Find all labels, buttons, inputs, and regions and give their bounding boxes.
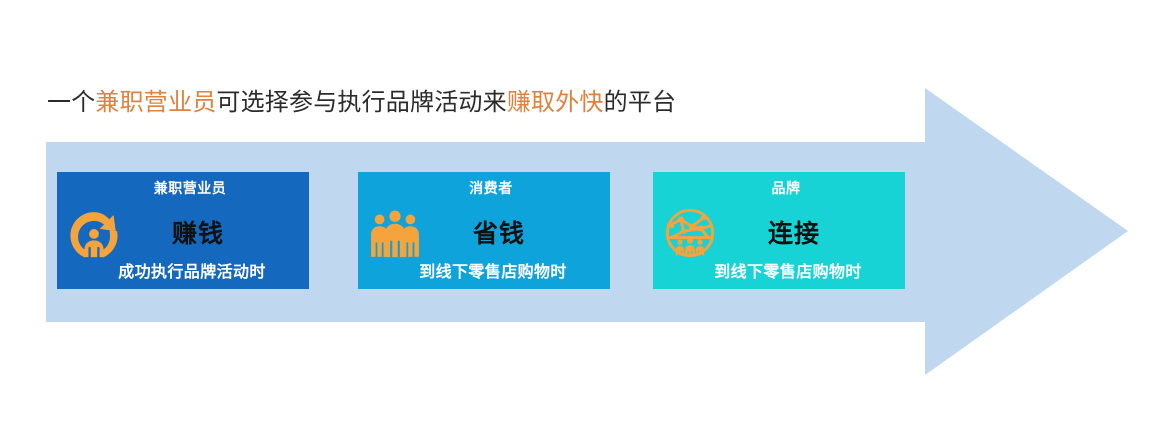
card-header-label: 消费者 [358, 178, 610, 198]
title-segment-5: 的平台 [604, 90, 677, 116]
card-main-label: 赚钱 [57, 214, 309, 250]
title-segment-1: 一个 [47, 90, 95, 116]
title-segment-3: 可选择参与执行品牌活动来 [216, 90, 506, 116]
page-title: 一个兼职营业员可选择参与执行品牌活动来赚取外快的平台 [47, 86, 676, 120]
title-segment-4-highlight: 赚取外快 [507, 90, 604, 116]
card-brand[interactable]: 品牌 连接 到线下零售店购物时 [653, 172, 905, 289]
card-footer-label: 到线下零售店购物时 [653, 258, 905, 282]
card-header-label: 兼职营业员 [57, 178, 309, 198]
card-footer-label: 到线下零售店购物时 [358, 258, 610, 282]
title-segment-2-highlight: 兼职营业员 [95, 90, 216, 116]
card-main-label: 连接 [653, 214, 905, 250]
card-part-time-clerk[interactable]: 兼职营业员 赚钱 成功执行品牌活动时 [57, 172, 309, 289]
card-footer-label: 成功执行品牌活动时 [57, 258, 309, 282]
card-main-label: 省钱 [358, 214, 610, 250]
slide-canvas: 一个兼职营业员可选择参与执行品牌活动来赚取外快的平台 兼职营业员 赚钱 成功执行… [0, 0, 1150, 430]
card-header-label: 品牌 [653, 178, 905, 198]
card-consumer[interactable]: 消费者 省钱 到线下零售店购物时 [358, 172, 610, 289]
